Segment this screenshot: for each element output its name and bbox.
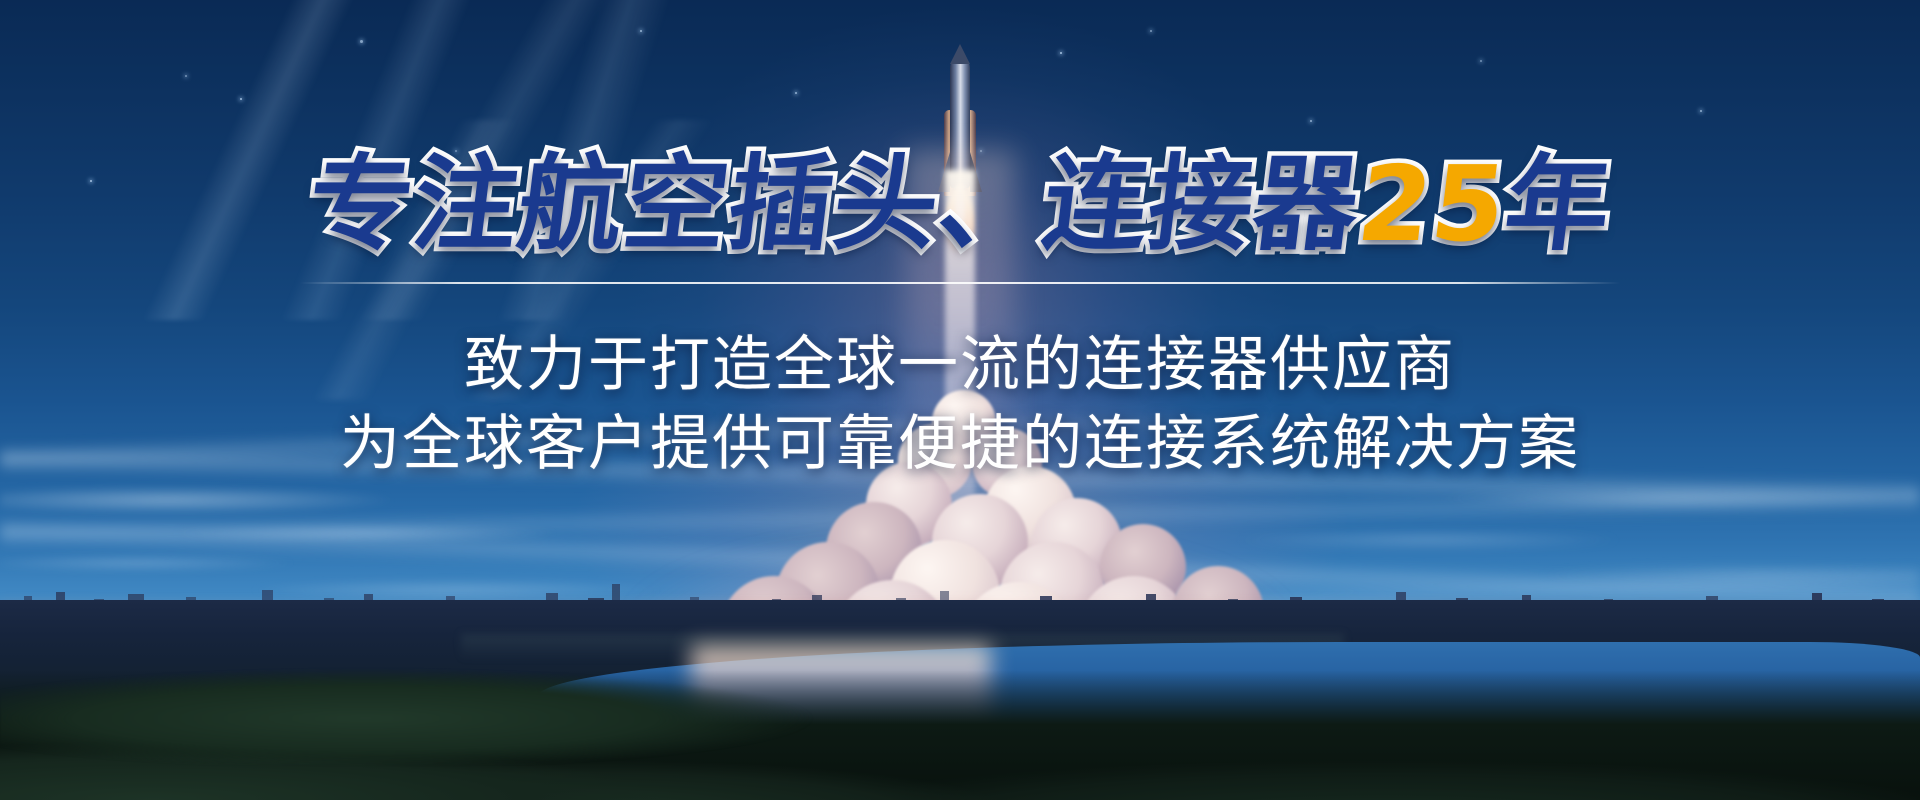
hero-banner: 专注航空插头、连接器25年 致力于打造全球一流的连接器供应商 为全球客户提供可靠… [0,0,1920,800]
headline-divider [300,282,1620,284]
subtitle-line-1: 致力于打造全球一流的连接器供应商 [464,330,1456,401]
headline-years-number: 25 [1352,143,1514,265]
subtitle-line-2: 为全球客户提供可靠便捷的连接系统解决方案 [340,409,1580,480]
headline-main-text: 专注航空插头、连接器 [302,143,1367,265]
headline-years-suffix: 年 [1498,143,1618,265]
banner-headline: 专注航空插头、连接器25年 [303,152,1618,256]
banner-content: 专注航空插头、连接器25年 致力于打造全球一流的连接器供应商 为全球客户提供可靠… [0,0,1920,800]
